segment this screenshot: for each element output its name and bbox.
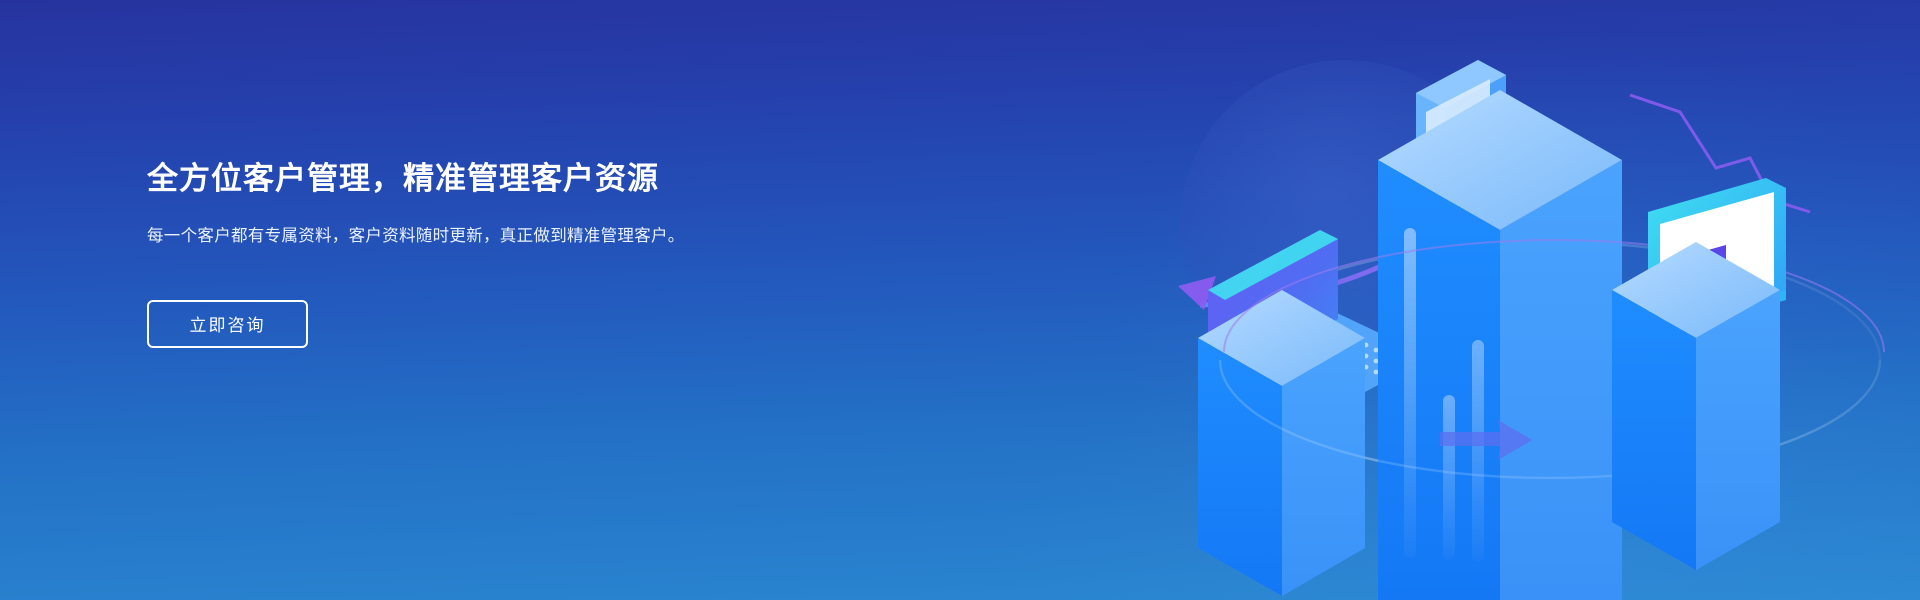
page-title: 全方位客户管理，精准管理客户资源 xyxy=(147,160,787,199)
hero-illustration xyxy=(1160,0,1920,600)
pillar-center xyxy=(1378,60,1622,600)
hero-banner: 全方位客户管理，精准管理客户资源 每一个客户都有专属资料，客户资料随时更新，真正… xyxy=(0,0,1920,600)
pillar-right-side xyxy=(1696,290,1780,570)
consult-now-button[interactable]: 立即咨询 xyxy=(147,300,308,348)
pillar-right-front xyxy=(1612,290,1696,570)
hero-subcopy: 每一个客户都有专属资料，客户资料随时更新，真正做到精准管理客户。 xyxy=(147,223,747,250)
pillar-center-side xyxy=(1500,160,1622,600)
hero-copy-block: 全方位客户管理，精准管理客户资源 每一个客户都有专属资料，客户资料随时更新，真正… xyxy=(147,160,787,348)
pillar-right xyxy=(1612,178,1786,570)
